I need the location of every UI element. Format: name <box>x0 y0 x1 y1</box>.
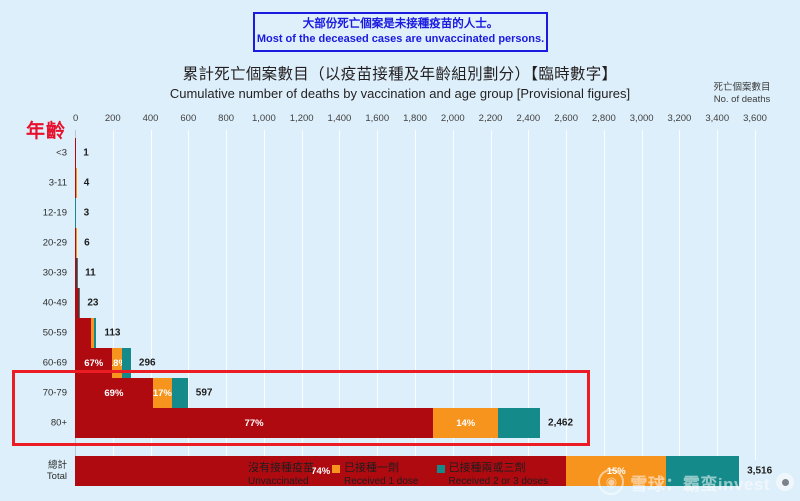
callout-text-zh: 大部份死亡個案是未接種疫苗的人士。 <box>303 17 499 32</box>
axis-tick-label: 1,400 <box>328 113 352 124</box>
chart-legend: 沒有接種疫苗Unvaccinated已接種一劑Received 1 dose已接… <box>236 462 566 488</box>
bar-row[interactable]: 23 <box>75 288 755 318</box>
category-label: 40-49 <box>43 298 67 309</box>
category-label-cell: 60-69 <box>0 348 75 378</box>
bar-row[interactable]: 67%18%296 <box>75 348 755 378</box>
bar-segment-red[interactable]: 67% <box>75 348 112 378</box>
bar-row[interactable]: 11 <box>75 258 755 288</box>
axis-tick-label: 0 <box>73 113 78 124</box>
category-label: 3-11 <box>49 178 67 189</box>
category-label-zh: 40-49 <box>43 298 67 309</box>
legend-label-en: Received 1 dose <box>332 475 419 488</box>
axis-tick-label: 2,800 <box>592 113 616 124</box>
bar-total-label: 2,462 <box>548 418 573 429</box>
gridline <box>755 130 756 460</box>
segment-percent-label: 14% <box>456 418 475 429</box>
bar-total-label: 1 <box>83 148 89 159</box>
category-label-cell: 40-49 <box>0 288 75 318</box>
bar-segment-teal[interactable] <box>498 408 540 438</box>
chart-page: 大部份死亡個案是未接種疫苗的人士。 Most of the deceased c… <box>0 0 800 501</box>
category-label: 12-19 <box>43 208 67 219</box>
category-label-cell: 20-29 <box>0 228 75 258</box>
bar-row[interactable]: 113 <box>75 318 755 348</box>
bar-row[interactable]: 69%17%597 <box>75 378 755 408</box>
legend-label-en: Unvaccinated <box>236 475 309 488</box>
category-label: 總計Total <box>47 460 67 482</box>
bar-row[interactable]: 1 <box>75 138 755 168</box>
axis-tick-label: 400 <box>143 113 159 124</box>
segment-percent-label: 77% <box>245 418 264 429</box>
category-label-zh: <3 <box>56 148 67 159</box>
axis-tick-label: 1,800 <box>403 113 427 124</box>
bar-segment-teal[interactable] <box>94 318 96 348</box>
axis-tick-label: 2,600 <box>554 113 578 124</box>
stacked-bar[interactable] <box>75 318 96 348</box>
axis-tick-label: 200 <box>105 113 121 124</box>
segment-percent-label: 67% <box>84 358 103 369</box>
watermark: ◉ 雪球：霸蛮invest <box>598 469 794 495</box>
category-label-cell: 3-11 <box>0 168 75 198</box>
bar-segment-teal[interactable] <box>122 348 131 378</box>
legend-label-zh: 已接種兩或三劑 <box>449 462 526 475</box>
stacked-bar[interactable]: 67%18% <box>75 348 131 378</box>
axis-tick-label: 2,200 <box>479 113 503 124</box>
value-axis-label: 死亡個案數目 No. of deaths <box>690 82 794 106</box>
legend-swatch-icon <box>437 465 445 473</box>
category-label-zh: 50-59 <box>43 328 67 339</box>
xueqiu-logo-icon: ◉ <box>598 469 624 495</box>
bar-row[interactable]: 77%14%2,462 <box>75 408 755 438</box>
bar-row[interactable]: 4 <box>75 168 755 198</box>
legend-label-zh: 已接種一劑 <box>344 462 399 475</box>
bar-segment-red[interactable] <box>75 318 91 348</box>
bar-total-label: 4 <box>84 178 90 189</box>
category-label-zh: 80+ <box>51 418 67 429</box>
category-label-cell: 50-59 <box>0 318 75 348</box>
value-axis-label-zh: 死亡個案數目 <box>690 82 794 94</box>
axis-tick-label: 800 <box>218 113 234 124</box>
segment-percent-label: 17% <box>153 388 172 399</box>
stacked-bar[interactable] <box>75 168 76 198</box>
value-axis-label-en: No. of deaths <box>690 94 794 106</box>
bar-total-label: 6 <box>84 238 90 249</box>
category-label-cell: <3 <box>0 138 75 168</box>
axis-tick-label: 3,000 <box>630 113 654 124</box>
axis-tick-label: 3,400 <box>705 113 729 124</box>
bar-total-label: 296 <box>139 358 156 369</box>
bar-total-label: 597 <box>196 388 213 399</box>
bar-total-label: 113 <box>104 328 120 339</box>
axis-tick-label: 3,600 <box>743 113 767 124</box>
legend-swatch-icon <box>236 465 244 473</box>
axis-tick-label: 3,200 <box>668 113 692 124</box>
category-label-cell: 70-79 <box>0 378 75 408</box>
bar-segment-orange[interactable]: 18% <box>112 348 122 378</box>
category-label-cell: 12-19 <box>0 198 75 228</box>
legend-swatch-icon <box>332 465 340 473</box>
axis-tick-label: 600 <box>180 113 196 124</box>
axis-tick-label: 2,400 <box>516 113 540 124</box>
category-label: 60-69 <box>43 358 67 369</box>
category-label: 70-79 <box>43 388 67 399</box>
callout-text-en: Most of the deceased cases are unvaccina… <box>257 32 544 47</box>
legend-item[interactable]: 已接種兩或三劑Received 2 or 3 doses <box>437 462 549 488</box>
chart-title-zh: 累計死亡個案數目（以疫苗接種及年齡組別劃分）【臨時數字】 <box>0 62 800 84</box>
category-label: <3 <box>56 148 67 159</box>
category-label-en: Total <box>47 471 67 482</box>
bar-segment-orange[interactable]: 14% <box>433 408 498 438</box>
category-label-zh: 70-79 <box>43 388 67 399</box>
segment-percent-label: 69% <box>104 388 123 399</box>
category-label-zh: 30-39 <box>43 268 67 279</box>
category-label: 20-29 <box>43 238 67 249</box>
stacked-bar[interactable] <box>75 198 76 228</box>
category-label-cell: 30-39 <box>0 258 75 288</box>
category-label-zh: 60-69 <box>43 358 67 369</box>
legend-item[interactable]: 已接種一劑Received 1 dose <box>332 462 419 488</box>
category-label-cell: 80+ <box>0 408 75 438</box>
axis-tick-label: 1,200 <box>290 113 314 124</box>
axis-tick-label: 1,600 <box>365 113 389 124</box>
bar-segment-orange[interactable]: 17% <box>153 378 172 408</box>
plot-area: 02004006008001,0001,2001,4001,6001,8002,… <box>75 130 755 460</box>
axis-tick-label: 2,000 <box>441 113 465 124</box>
bar-row[interactable]: 3 <box>75 198 755 228</box>
category-label-cell: 總計Total <box>0 456 75 486</box>
watermark-text: 雪球：霸蛮invest <box>630 470 770 495</box>
category-label: 80+ <box>51 418 67 429</box>
bar-total-label: 3 <box>84 208 90 219</box>
legend-label-en: Received 2 or 3 doses <box>437 475 549 488</box>
bar-total-label: 11 <box>85 268 96 279</box>
axis-tick-label: 1,000 <box>252 113 276 124</box>
bar-segment-red[interactable]: 69% <box>75 378 153 408</box>
category-label: 50-59 <box>43 328 67 339</box>
category-label-zh: 總計 <box>47 460 67 471</box>
legend-label-zh: 沒有接種疫苗 <box>248 462 314 475</box>
stacked-bar[interactable]: 77%14% <box>75 408 540 438</box>
bar-row[interactable]: 6 <box>75 228 755 258</box>
category-label-zh: 3-11 <box>49 178 67 189</box>
stacked-bar[interactable] <box>75 288 79 318</box>
bar-total-label: 23 <box>87 298 98 309</box>
segment-percent-label: 18% <box>112 358 122 369</box>
stacked-bar[interactable]: 69%17% <box>75 378 188 408</box>
legend-item[interactable]: 沒有接種疫苗Unvaccinated <box>236 462 314 488</box>
stacked-bar[interactable] <box>75 228 76 258</box>
watermark-dot-icon <box>776 473 794 491</box>
stacked-bar[interactable] <box>75 258 77 288</box>
bar-segment-red[interactable]: 77% <box>75 408 433 438</box>
chart-title-en: Cumulative number of deaths by vaccinati… <box>0 86 800 101</box>
bar-segment-teal[interactable] <box>172 378 188 408</box>
category-label-zh: 20-29 <box>43 238 67 249</box>
category-label: 30-39 <box>43 268 67 279</box>
category-label-zh: 12-19 <box>43 208 67 219</box>
callout-box: 大部份死亡個案是未接種疫苗的人士。 Most of the deceased c… <box>253 12 548 52</box>
